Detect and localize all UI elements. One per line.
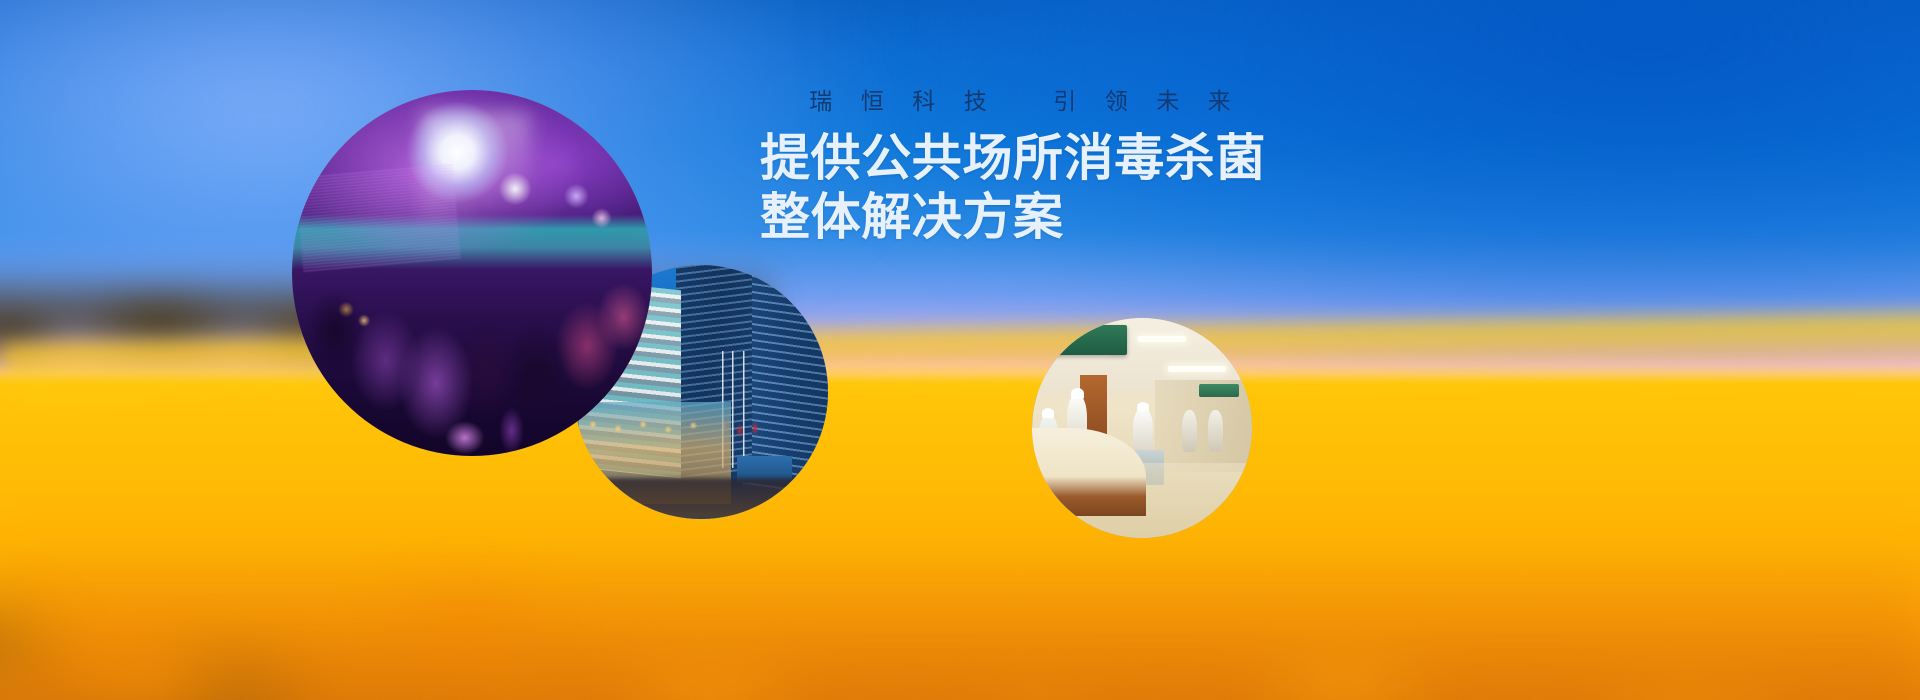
hospital-image	[1032, 318, 1252, 538]
hospital-nurse-far-2	[1208, 410, 1223, 452]
hospital-ceiling-light-3	[1168, 366, 1225, 371]
nightclub-light-beam	[422, 112, 530, 258]
hospital-department-sign	[1052, 325, 1127, 356]
hospital-nurse-far-1	[1182, 410, 1197, 452]
collage-photo-nightclub	[292, 90, 652, 456]
nightclub-image	[292, 90, 652, 456]
hospital-wayfinding-sign	[1199, 384, 1239, 397]
eyebrow-left-text: 瑞 恒 科 技	[809, 88, 997, 114]
hospital-nurse-cap-1	[1071, 388, 1084, 399]
background-foreground-bottom	[0, 532, 1920, 700]
hero-banner: 瑞 恒 科 技 引 领 未 来 提供公共场所消毒杀菌 整体解决方案	[0, 0, 1920, 700]
collage-photo-hospital	[1032, 318, 1252, 538]
banner-headline: 提供公共场所消毒杀菌 整体解决方案	[760, 129, 1280, 247]
hospital-ceiling-light-2	[1138, 336, 1186, 343]
headline-line-1: 提供公共场所消毒杀菌	[760, 130, 1266, 186]
hospital-nurse-cap-3	[1137, 402, 1149, 412]
eyebrow-right-text: 引 领 未 来	[1053, 88, 1241, 114]
banner-eyebrow: 瑞 恒 科 技 引 领 未 来	[760, 88, 1280, 116]
hospital-nurse-cap-2	[1042, 408, 1054, 418]
banner-text-block: 瑞 恒 科 技 引 领 未 来 提供公共场所消毒杀菌 整体解决方案	[760, 88, 1280, 247]
hospital-reception-desk	[1032, 428, 1146, 516]
office-street	[574, 478, 828, 519]
headline-line-2: 整体解决方案	[760, 188, 1280, 247]
